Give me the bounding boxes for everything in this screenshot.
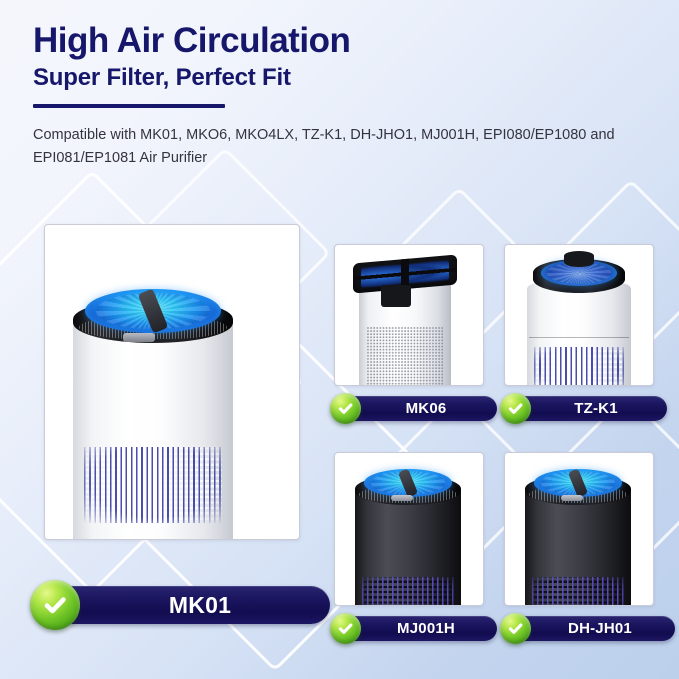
purifier-top-neck [564, 251, 594, 267]
page-subtitle: Super Filter, Perfect Fit [33, 65, 653, 91]
compat-badge-tzk1[interactable]: TZ-K1 [500, 396, 667, 421]
purifier-air-grille [534, 347, 623, 385]
green-check-circle-icon [330, 613, 361, 644]
purifier-air-grille [84, 447, 222, 523]
purifier-air-grille [362, 577, 453, 605]
photo-scene-tzk1 [505, 245, 653, 385]
compat-badge-pill[interactable]: MK01 [70, 586, 330, 624]
compatibility-text: Compatible with MK01, MKO6, MKO4LX, TZ-K… [33, 124, 653, 169]
compat-badge-label: MK06 [406, 400, 447, 417]
page-title: High Air Circulation [33, 22, 653, 59]
product-photo-mk06 [334, 244, 484, 386]
air-purifier-illustration-dhjh01 [525, 469, 631, 605]
photo-scene-mj001h [335, 453, 483, 605]
green-check-circle-icon [500, 393, 531, 424]
compat-badge-dhjh01[interactable]: DH-JH01 [500, 616, 675, 641]
compat-badge-pill[interactable]: MK06 [355, 396, 497, 421]
photo-scene-mk01 [45, 225, 299, 539]
air-purifier-illustration-tzk1 [527, 251, 631, 385]
air-purifier-illustration-mj001h [355, 469, 461, 605]
purifier-blue-glow [364, 469, 452, 497]
photo-scene-dhjh01 [505, 453, 653, 605]
product-photo-mk01 [44, 224, 300, 540]
purifier-perforated-panel [367, 327, 443, 385]
green-check-circle-icon [500, 613, 531, 644]
compat-badge-pill[interactable]: MJ001H [355, 616, 497, 641]
compat-badge-pill[interactable]: DH-JH01 [525, 616, 675, 641]
purifier-control-tab [123, 333, 155, 342]
photo-scene-mk06 [335, 245, 483, 385]
purifier-body-seam [529, 337, 629, 338]
green-check-circle-icon [30, 580, 80, 630]
purifier-control-tab [391, 495, 413, 501]
compat-badge-label: MK01 [169, 592, 231, 619]
compat-badge-mj001h[interactable]: MJ001H [330, 616, 497, 641]
compat-badge-label: TZ-K1 [574, 400, 618, 417]
header-block: High Air Circulation Super Filter, Perfe… [33, 22, 653, 169]
compat-badge-label: DH-JH01 [568, 620, 632, 637]
product-photo-tzk1 [504, 244, 654, 386]
product-photo-mj001h [334, 452, 484, 606]
compat-badge-label: MJ001H [397, 620, 455, 637]
purifier-blue-glow [534, 469, 622, 497]
compat-badge-mk01[interactable]: MK01 [30, 586, 330, 624]
purifier-air-grille [532, 577, 623, 605]
compat-badge-mk06[interactable]: MK06 [330, 396, 497, 421]
compat-badge-pill[interactable]: TZ-K1 [525, 396, 667, 421]
title-divider [33, 104, 225, 108]
purifier-control-tab [561, 495, 583, 501]
product-photo-dhjh01 [504, 452, 654, 606]
green-check-circle-icon [330, 393, 361, 424]
air-purifier-illustration-mk01 [73, 289, 233, 539]
air-purifier-illustration-mk06 [353, 255, 457, 385]
purifier-front-handle [381, 285, 411, 307]
purifier-blue-glow [85, 289, 221, 333]
infographic-canvas: High Air Circulation Super Filter, Perfe… [0, 0, 679, 679]
